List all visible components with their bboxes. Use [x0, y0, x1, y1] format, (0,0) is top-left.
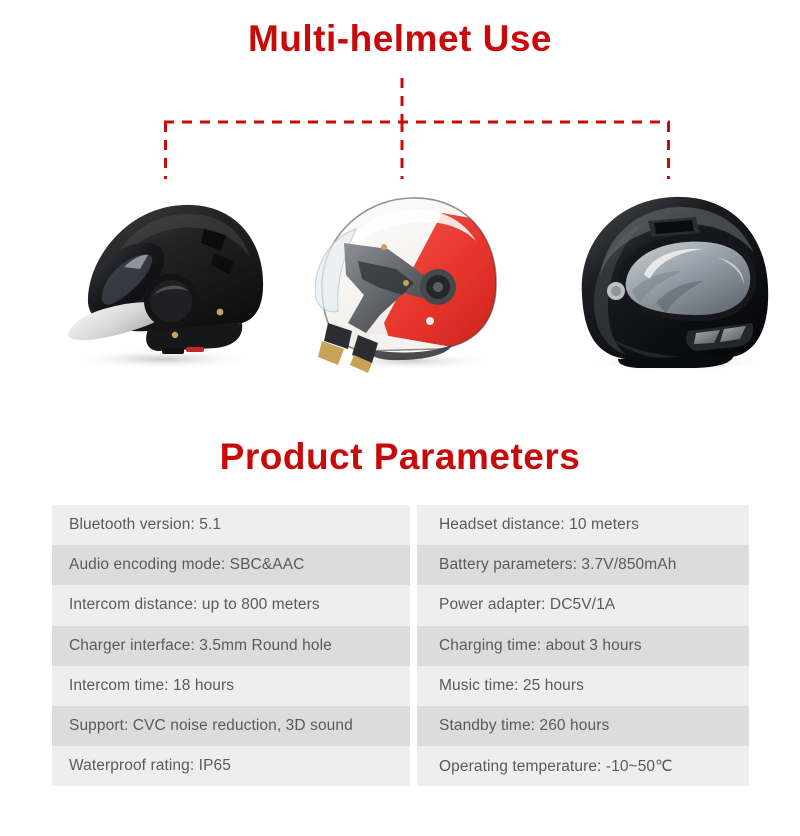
spec-row: Power adapter: DC5V/1A	[417, 585, 749, 625]
spec-row: Bluetooth version: 5.1	[52, 505, 410, 545]
spec-column-right: Headset distance: 10 meters Battery para…	[417, 505, 749, 787]
spec-row: Intercom distance: up to 800 meters	[52, 585, 410, 625]
spec-row: Intercom time: 18 hours	[52, 666, 410, 706]
black-open-face-helmet-icon	[28, 183, 280, 378]
spec-row: Battery parameters: 3.7V/850mAh	[417, 545, 749, 585]
spec-row: Charger interface: 3.5mm Round hole	[52, 626, 410, 666]
product-parameters-table: Bluetooth version: 5.1 Audio encoding mo…	[52, 505, 749, 787]
page-title-product-parameters: Product Parameters	[0, 434, 800, 480]
page-title-multi-helmet: Multi-helmet Use	[0, 16, 800, 62]
spec-row: Support: CVC noise reduction, 3D sound	[52, 706, 410, 746]
helmet-image-row	[0, 183, 800, 378]
white-red-open-face-helmet-icon	[292, 183, 522, 378]
helmet-image-white-red-open-face	[292, 183, 522, 378]
helmet-image-black-full-face	[556, 183, 794, 378]
spec-column-left: Bluetooth version: 5.1 Audio encoding mo…	[52, 505, 410, 787]
spec-row: Audio encoding mode: SBC&AAC	[52, 545, 410, 585]
spec-row: Charging time: about 3 hours	[417, 626, 749, 666]
helmet-image-black-open-face	[28, 183, 280, 378]
spec-row: Headset distance: 10 meters	[417, 505, 749, 545]
black-full-face-modular-helmet-icon	[556, 183, 794, 378]
spec-row: Standby time: 260 hours	[417, 706, 749, 746]
spec-row: Waterproof rating: IP65	[52, 746, 410, 786]
spec-row: Music time: 25 hours	[417, 666, 749, 706]
spec-row: Operating temperature: -10~50℃	[417, 746, 749, 786]
